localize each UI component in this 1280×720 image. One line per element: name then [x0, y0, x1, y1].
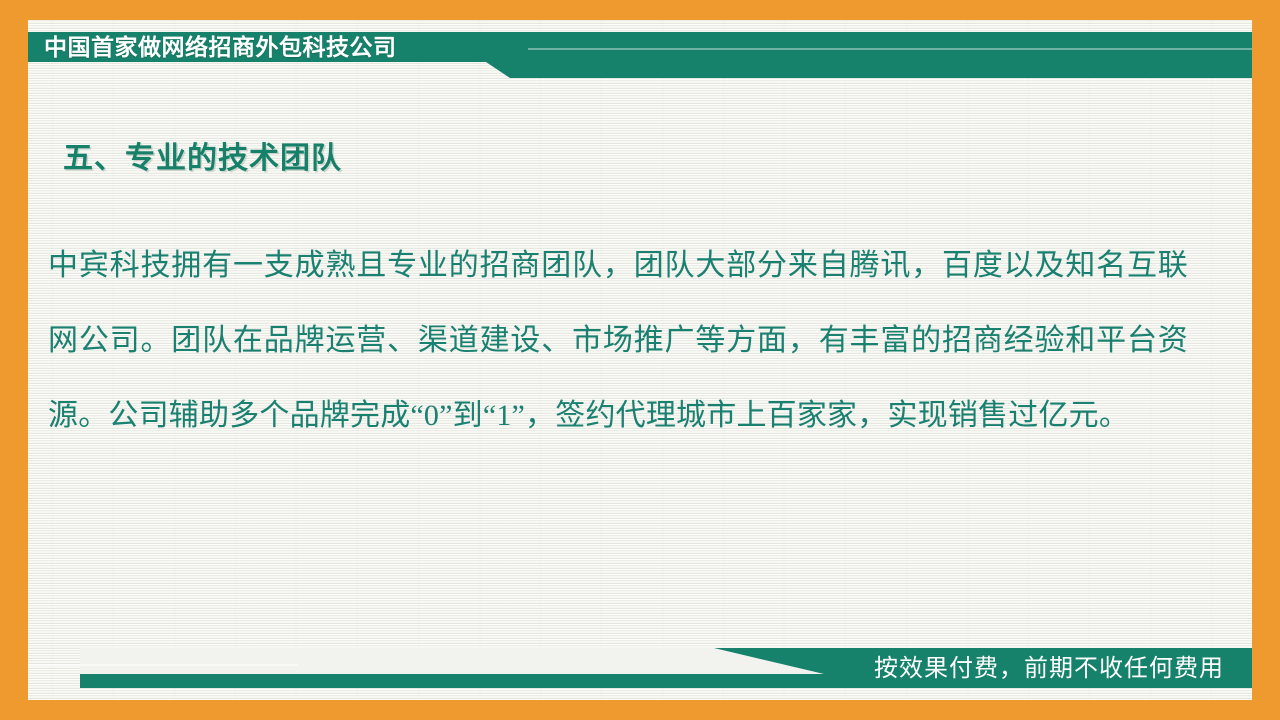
body-paragraph: 中宾科技拥有一支成熟且专业的招商团队，团队大部分来自腾讯，百度以及知名互联网公司… [48, 228, 1188, 453]
header-accent-line [528, 48, 1252, 50]
footer-diagonal-notch [80, 648, 824, 674]
header-banner: 中国首家做网络招商外包科技公司 [28, 32, 1252, 78]
body-text-block: 中宾科技拥有一支成熟且专业的招商团队，团队大部分来自腾讯，百度以及知名互联网公司… [48, 228, 1188, 453]
footer-accent-line [28, 664, 298, 666]
footer-banner: 按效果付费，前期不收任何费用 [28, 640, 1252, 700]
slide-canvas: 中国首家做网络招商外包科技公司 五、专业的技术团队 中宾科技拥有一支成熟且专业的… [0, 0, 1280, 720]
header-title: 中国首家做网络招商外包科技公司 [44, 32, 397, 62]
section-heading: 五、专业的技术团队 [63, 133, 342, 177]
footer-tagline: 按效果付费，前期不收任何费用 [874, 650, 1224, 686]
